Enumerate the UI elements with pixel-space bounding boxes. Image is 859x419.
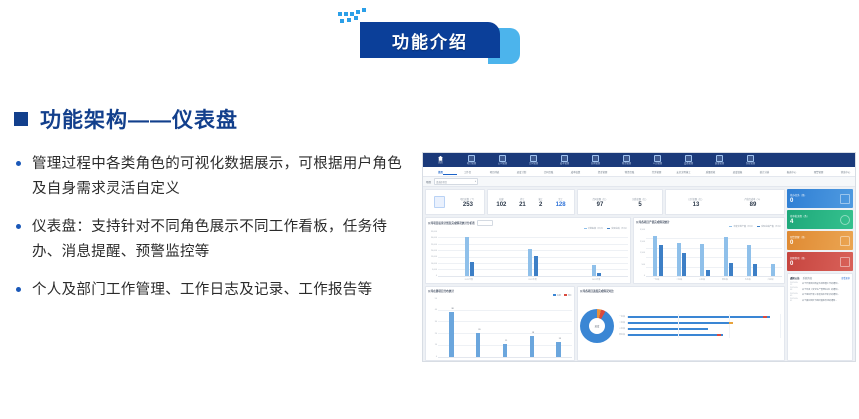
bar-series xyxy=(646,229,782,276)
legend-item: 计划投资（万元） xyxy=(584,227,605,230)
dashboard-nav: 首页 项目管理 公司管理 合同管理 成本管理 采购管理 xyxy=(423,153,855,167)
nav-item-contract[interactable]: 合同管理 xyxy=(518,155,549,166)
chart-title: 公司在建项目分布统计 xyxy=(428,289,454,293)
kpi-finished: 完工 128 xyxy=(556,197,566,208)
y-tick: 3,500 xyxy=(640,229,645,231)
project-select-value: 请选择项目 xyxy=(436,180,447,184)
list-item[interactable]: 2023-09-01 关于做好国庆节期间值班安排的通知... xyxy=(790,298,850,302)
kpi-group-amount: 合同金额（亿） 97 回款金额（亿） 5 xyxy=(577,189,663,215)
y-tick: 10 xyxy=(435,344,437,346)
legend-label: 年度计划产值（万元） xyxy=(733,225,754,228)
bar xyxy=(659,245,663,276)
building-icon xyxy=(499,155,506,162)
x-tick: 四标段 xyxy=(717,278,733,281)
y-tick: 1,500 xyxy=(640,252,645,254)
kpi-received-amount: 回款金额（亿） 5 xyxy=(632,197,647,208)
message-date: 2023-09-12 xyxy=(790,282,800,286)
x-tick: 二标段 xyxy=(671,278,687,281)
tab-cost[interactable]: 成本核算 xyxy=(562,170,589,174)
kpi-label: 在建 xyxy=(499,197,503,201)
bar-group: 20 xyxy=(476,298,481,357)
y-tick: 40 xyxy=(435,309,437,311)
chart-legend: 计划投资（万元） 实际完成（万元） xyxy=(428,227,628,230)
kpi-label: 合同金额（亿） xyxy=(592,197,607,201)
gear-icon xyxy=(747,155,754,162)
chart-header: 公司在建项目分布统计 xyxy=(428,289,572,293)
tab-analytics[interactable]: 统计分析 xyxy=(751,170,778,174)
bar-value-label: 18 xyxy=(532,332,534,334)
tab-workbench[interactable]: 工作台 xyxy=(454,170,481,174)
bar xyxy=(597,273,601,276)
kpi-label: 产值完成率（%） xyxy=(744,197,761,201)
bar xyxy=(530,336,535,357)
chart-legend: 年度计划产值（万元） 实际完成产值（万元） xyxy=(636,225,782,228)
task-icon xyxy=(840,194,850,204)
banner-title: 功能介绍 xyxy=(392,28,468,53)
x-tick: 三标段 xyxy=(694,278,710,281)
kpi-label: 项目总数（个） xyxy=(460,197,475,201)
status-card-approvals[interactable]: 待审批流程（条） 4 xyxy=(787,210,853,229)
legend-label: 在建 xyxy=(557,294,561,297)
bar xyxy=(592,265,596,277)
kpi-value: 89 xyxy=(750,202,757,208)
chart-header: 公司各项目进度完成情况对比 xyxy=(580,289,782,293)
tab-progress-report[interactable]: 进度填报 xyxy=(724,170,751,174)
kpi-in-progress: 在建 102 xyxy=(496,197,506,208)
bar xyxy=(753,264,757,276)
kpi-group-payment: 已付金额（亿） 13 产值完成率（%） 89 xyxy=(665,189,785,215)
view-more-link[interactable]: 查看更多 xyxy=(841,276,850,280)
bar xyxy=(470,262,474,276)
legend-label: 计划投资（万元） xyxy=(588,227,605,230)
chart-plot: 3,500 2,500 1,500 500 0 xyxy=(636,229,782,277)
status-card-alerts[interactable]: 预警提醒（条） 0 xyxy=(787,231,853,250)
hbar-marker xyxy=(729,322,733,325)
bar-group xyxy=(528,231,538,276)
dashboard-body: 项目总数（个） 253 在建 102 停工 21 xyxy=(423,187,855,362)
kpi-label: 已付金额（亿） xyxy=(688,197,703,201)
bar xyxy=(677,243,681,277)
nav-label: 设备管理 xyxy=(684,163,693,166)
bar-group: 11 xyxy=(503,298,508,357)
nav-item-company[interactable]: 公司管理 xyxy=(487,155,518,166)
bar-group: 38 xyxy=(449,298,454,357)
kpi-value: 21 xyxy=(519,202,526,208)
message-text: 关于组织开展三季度成本分析会的通知... xyxy=(802,293,850,296)
message-date: 2023-09-01 xyxy=(790,298,800,302)
dashboard-tabstrip: 首页 工作台 项目列表 进度计划 合同台账 成本核算 资金管理 物资台账 劳务管… xyxy=(423,167,855,177)
y-tick: 2,500 xyxy=(640,241,645,243)
y-tick: 15,000 xyxy=(431,256,437,258)
content-column: 功能架构——仪表盘 管理过程中各类角色的可视化数据展示，可根据用户角色及自身需求… xyxy=(14,104,414,316)
y-tick: 25,000 xyxy=(431,244,437,246)
legend-item: 年度计划产值（万元） xyxy=(729,225,754,228)
chart-plot: 35,000 30,000 25,000 20,000 15,000 10,00… xyxy=(428,231,628,277)
bar xyxy=(771,264,775,276)
check-icon xyxy=(716,155,723,162)
chart-legend: 在建 停工 xyxy=(428,294,572,297)
chevron-down-icon: ▾ xyxy=(475,180,476,183)
grid-icon xyxy=(468,155,475,162)
tab-message-center[interactable]: 消息中心 xyxy=(832,170,856,174)
legend-item: 实际完成产值（万元） xyxy=(757,225,782,228)
message-date: 2023-09-08 xyxy=(790,287,800,291)
nav-label: 系统管理 xyxy=(746,163,755,166)
nav-item-equipment[interactable]: 设备管理 xyxy=(673,155,704,166)
y-tick: 35,000 xyxy=(431,231,437,233)
chart-plot: 50 40 30 20 10 0 xyxy=(428,298,572,358)
bar xyxy=(682,253,686,276)
kpi-output-rate: 产值完成率（%） 89 xyxy=(744,197,761,208)
bar xyxy=(556,342,561,357)
y-tick: 0 xyxy=(436,356,437,358)
bar xyxy=(503,344,508,357)
doc-icon xyxy=(434,196,445,208)
y-tick: 20 xyxy=(435,333,437,335)
nav-label: 项目管理 xyxy=(467,163,476,166)
tab-schedule[interactable]: 进度计划 xyxy=(508,170,535,174)
horizontal-bar-chart: 一标段 二标段 xyxy=(617,315,782,336)
nav-label: 公司管理 xyxy=(498,163,507,166)
user-icon xyxy=(654,155,661,162)
x-tick: 六标段 xyxy=(763,278,779,281)
bar-group xyxy=(465,231,475,276)
bar-group xyxy=(747,229,757,276)
nav-label: 采购管理 xyxy=(591,163,600,166)
bar xyxy=(729,263,733,277)
nav-label: 首页 xyxy=(438,162,443,165)
kpi-value[interactable]: 128 xyxy=(556,202,566,208)
kpi-value: 13 xyxy=(693,202,700,208)
bar-group xyxy=(592,231,602,276)
nav-label: 成本管理 xyxy=(560,163,569,166)
bar xyxy=(653,236,657,277)
bar-group: 18 xyxy=(530,298,535,357)
year-select[interactable] xyxy=(477,220,493,226)
kpi-paid-amount: 已付金额（亿） 13 xyxy=(688,197,703,208)
nav-label: 人员管理 xyxy=(653,163,662,166)
hbar-track xyxy=(627,328,783,331)
chart-card-investment: 公司项目投资计划及完成情况统计分析表 计划投资（万元） 实际完成（万元） 35,… xyxy=(425,217,631,284)
chart-card-distribution: 公司在建项目分布统计 在建 停工 50 40 30 20 xyxy=(425,286,575,361)
kpi-value: 102 xyxy=(496,202,506,208)
bar-group xyxy=(700,229,710,276)
message-tabs: 通知公告 系统消息 xyxy=(790,276,812,280)
hbar-label: 一标段 xyxy=(617,315,625,318)
nav-item-purchase[interactable]: 采购管理 xyxy=(580,155,611,166)
nav-label: 质量管理 xyxy=(715,163,724,166)
bar xyxy=(706,270,710,277)
tab-system-messages[interactable]: 系统消息 xyxy=(803,276,813,280)
section-banner: 功能介绍 xyxy=(338,6,538,66)
y-tick: 30,000 xyxy=(431,237,437,239)
y-tick: 5,000 xyxy=(432,269,437,271)
dashboard-filterbar: 项目 请选择项目 ▾ xyxy=(423,177,855,187)
section-heading: 功能架构——仪表盘 xyxy=(14,104,414,134)
y-axis: 3,500 2,500 1,500 500 0 xyxy=(636,229,646,277)
tab-warning[interactable]: 预警管理 xyxy=(805,170,832,174)
approve-icon xyxy=(840,215,850,225)
x-tick: 2022年度 xyxy=(524,278,540,281)
bar-series xyxy=(438,231,628,276)
chart-row-bottom: 公司在建项目分布统计 在建 停工 50 40 30 20 xyxy=(425,286,785,361)
y-tick: 500 xyxy=(642,264,645,266)
hbar-row: 一标段 xyxy=(617,315,782,318)
message-panel: 通知公告 系统消息 查看更多 2023-09-12 关于开展项目质量专项检查工作… xyxy=(787,273,853,361)
page-title: 功能架构——仪表盘 xyxy=(40,104,238,134)
bar xyxy=(700,244,704,277)
chart-header: 公司项目投资计划及完成情况统计分析表 xyxy=(428,220,628,226)
tab-contract-ledger[interactable]: 合同台账 xyxy=(535,170,562,174)
list-item[interactable]: 2023-09-12 关于开展项目质量专项检查工作的通知... xyxy=(790,282,850,286)
chart-card-progress: 公司各项目进度完成情况对比 进度 一标段 xyxy=(577,286,785,361)
bar xyxy=(528,249,532,276)
hbar-row: 二标段 xyxy=(617,321,782,324)
home-icon xyxy=(438,156,443,161)
nav-item-system[interactable]: 系统管理 xyxy=(735,155,766,166)
bar-value-label: 13 xyxy=(559,338,561,340)
status-card-tasks[interactable]: 待办任务（条） 0 xyxy=(787,189,853,208)
hbar-fill xyxy=(628,316,770,319)
hbar-row: 四标段 xyxy=(617,333,782,336)
chart-row-top: 公司项目投资计划及完成情况统计分析表 计划投资（万元） 实际完成（万元） 35,… xyxy=(425,217,785,284)
filter-label: 项目 xyxy=(426,180,431,184)
y-axis: 50 40 30 20 10 0 xyxy=(428,298,438,358)
kpi-label: 回款金额（亿） xyxy=(632,197,647,201)
dashboard-sidebar: 待办任务（条） 0 待审批流程（条） 4 预警提醒（条） 0 超期事项（条） 0 xyxy=(787,189,853,361)
chart-title: 公司各项目进度完成情况对比 xyxy=(580,289,614,293)
tab-funds[interactable]: 资金管理 xyxy=(589,170,616,174)
status-card-overdue[interactable]: 超期事项（条） 0 xyxy=(787,252,853,271)
hbar-track xyxy=(627,322,783,325)
chart-title: 公司项目投资计划及完成情况统计分析表 xyxy=(428,221,475,225)
hbar-track xyxy=(627,334,783,337)
kpi-label: 完工 xyxy=(558,197,562,201)
chart-title: 公司各项目产值完成情况统计 xyxy=(636,220,670,224)
x-tick: 2021年度 xyxy=(461,278,477,281)
bar-series: 38 20 11 xyxy=(438,298,572,357)
bar-value-label: 20 xyxy=(478,329,480,331)
plot-area xyxy=(438,231,628,277)
bar-value-label: 11 xyxy=(505,340,507,342)
list-item: 管理过程中各类角色的可视化数据展示，可根据用户角色及自身需求灵活自定义 xyxy=(14,152,414,202)
dashboard-main: 项目总数（个） 253 在建 102 停工 21 xyxy=(425,189,785,361)
list-item[interactable]: 2023-09-05 关于组织开展三季度成本分析会的通知... xyxy=(790,293,850,297)
kpi-label: 停工 xyxy=(520,197,524,201)
kpi-value: 2 xyxy=(539,202,542,208)
x-tick: 五标段 xyxy=(740,278,756,281)
message-panel-header: 通知公告 系统消息 查看更多 xyxy=(790,276,850,280)
bar-group xyxy=(653,229,663,276)
kpi-value: 5 xyxy=(638,202,641,208)
hbar-track xyxy=(627,316,783,319)
bar-group xyxy=(677,229,687,276)
x-axis: 一标段 二标段 三标段 四标段 五标段 六标段 xyxy=(636,278,782,281)
legend-label: 实际完成（万元） xyxy=(611,227,628,230)
bar xyxy=(534,256,538,276)
shield-icon xyxy=(530,155,537,162)
donut-center-label: 进度 xyxy=(595,324,600,328)
hbar-fill xyxy=(628,334,724,337)
x-tick: 一标段 xyxy=(648,278,664,281)
kpi-value: 253 xyxy=(463,202,473,208)
message-text: 关于印发《安全生产管理办法》的通知... xyxy=(802,288,850,291)
dashboard-screenshot: 首页 项目管理 公司管理 合同管理 成本管理 采购管理 xyxy=(422,152,856,362)
nav-item-personnel[interactable]: 人员管理 xyxy=(642,155,673,166)
nav-item-home[interactable]: 首页 xyxy=(425,156,456,165)
y-tick: 10,000 xyxy=(431,263,437,265)
slide-root: 功能介绍 功能架构——仪表盘 管理过程中各类角色的可视化数据展示，可根据用户角色… xyxy=(0,0,859,419)
hbar-fill xyxy=(628,328,708,331)
bar-value-label: 38 xyxy=(451,308,453,310)
hbar-label: 四标段 xyxy=(617,333,625,336)
kpi-total-projects: 项目总数（个） 253 xyxy=(460,197,475,208)
legend-item: 实际完成（万元） xyxy=(607,227,628,230)
alert-icon xyxy=(840,236,850,246)
bar-group: 13 xyxy=(556,298,561,357)
banner-plate: 功能介绍 xyxy=(360,22,500,58)
progress-visuals: 进度 一标段 xyxy=(580,294,782,358)
hbar-marker xyxy=(717,334,721,337)
message-text: 关于做好国庆节期间值班安排的通知... xyxy=(802,299,850,302)
y-tick: 30 xyxy=(435,321,437,323)
y-axis: 35,000 30,000 25,000 20,000 15,000 10,00… xyxy=(428,231,438,277)
x-axis: 2021年度 2022年度 2023年度 xyxy=(428,278,628,281)
bar-group xyxy=(724,229,734,276)
bar xyxy=(747,245,751,276)
bar-group xyxy=(771,229,775,276)
tab-project-list[interactable]: 项目列表 xyxy=(481,170,508,174)
y-tick: 20,000 xyxy=(431,250,437,252)
tab-material-ledger[interactable]: 物资台账 xyxy=(616,170,643,174)
tool-icon xyxy=(685,155,692,162)
nav-item-quality[interactable]: 质量管理 xyxy=(704,155,735,166)
list-item: 个人及部门工作管理、工作日志及记录、工作报告等 xyxy=(14,278,414,303)
tab-announcements[interactable]: 通知公告 xyxy=(790,276,800,280)
list-item: 仪表盘：支持针对不同角色展示不同工作看板，任务待办、消息提醒、预警监控等 xyxy=(14,215,414,265)
kpi-completed: 竣工 2 xyxy=(539,197,543,208)
legend-label: 停工 xyxy=(568,294,572,297)
x-tick: 2023年度 xyxy=(588,278,604,281)
bar xyxy=(476,333,481,357)
tab-labor[interactable]: 劳务管理 xyxy=(643,170,670,174)
hbar-label: 三标段 xyxy=(617,327,625,330)
legend-label: 实际完成产值（万元） xyxy=(761,225,782,228)
y-tick: 50 xyxy=(435,298,437,300)
legend-item: 停工 xyxy=(564,294,572,297)
doc-icon xyxy=(592,155,599,162)
bar xyxy=(724,237,728,276)
nav-item-material[interactable]: 物资管理 xyxy=(611,155,642,166)
bullet-list: 管理过程中各类角色的可视化数据展示，可根据用户角色及自身需求灵活自定义 仪表盘：… xyxy=(14,152,414,303)
nav-item-cost[interactable]: 成本管理 xyxy=(549,155,580,166)
tab-report-center[interactable]: 报表中心 xyxy=(778,170,805,174)
nav-label: 合同管理 xyxy=(529,163,538,166)
bar xyxy=(449,312,454,357)
bar xyxy=(465,237,469,276)
box-icon xyxy=(623,155,630,162)
overdue-icon xyxy=(840,257,850,267)
person-icon xyxy=(561,155,568,162)
plot-area: 38 20 11 xyxy=(438,298,572,358)
tab-home[interactable]: 首页 xyxy=(427,170,454,174)
project-select[interactable]: 请选择项目 ▾ xyxy=(434,178,478,185)
tab-safety[interactable]: 安全文明施工 xyxy=(670,170,697,174)
tab-quality-accept[interactable]: 质量验收 xyxy=(697,170,724,174)
message-text: 关于开展项目质量专项检查工作的通知... xyxy=(802,282,850,285)
list-item[interactable]: 2023-09-08 关于印发《安全生产管理办法》的通知... xyxy=(790,287,850,291)
nav-item-project[interactable]: 项目管理 xyxy=(456,155,487,166)
kpi-group-status: 在建 102 停工 21 竣工 2 完工 128 xyxy=(487,189,575,215)
kpi-contract-amount: 合同金额（亿） 97 xyxy=(592,197,607,208)
message-date: 2023-09-05 xyxy=(790,293,800,297)
hbar-label: 二标段 xyxy=(617,321,625,324)
chart-card-output: 公司各项目产值完成情况统计 年度计划产值（万元） 实际完成产值（万元） 3,50… xyxy=(633,217,785,284)
donut-chart: 进度 xyxy=(580,309,614,343)
legend-item: 在建 xyxy=(553,294,561,297)
hbar-fill xyxy=(628,322,733,325)
kpi-label: 竣工 xyxy=(539,197,543,201)
plot-area xyxy=(646,229,782,277)
hbar-row: 三标段 xyxy=(617,327,782,330)
hbar-marker xyxy=(763,316,767,319)
square-bullet-icon xyxy=(14,112,28,126)
kpi-row: 项目总数（个） 253 在建 102 停工 21 xyxy=(425,189,785,215)
kpi-suspended: 停工 21 xyxy=(519,197,526,208)
kpi-value: 97 xyxy=(597,202,604,208)
chart-header: 公司各项目产值完成情况统计 xyxy=(636,220,782,224)
nav-label: 物资管理 xyxy=(622,163,631,166)
kpi-group-total: 项目总数（个） 253 xyxy=(425,189,485,215)
